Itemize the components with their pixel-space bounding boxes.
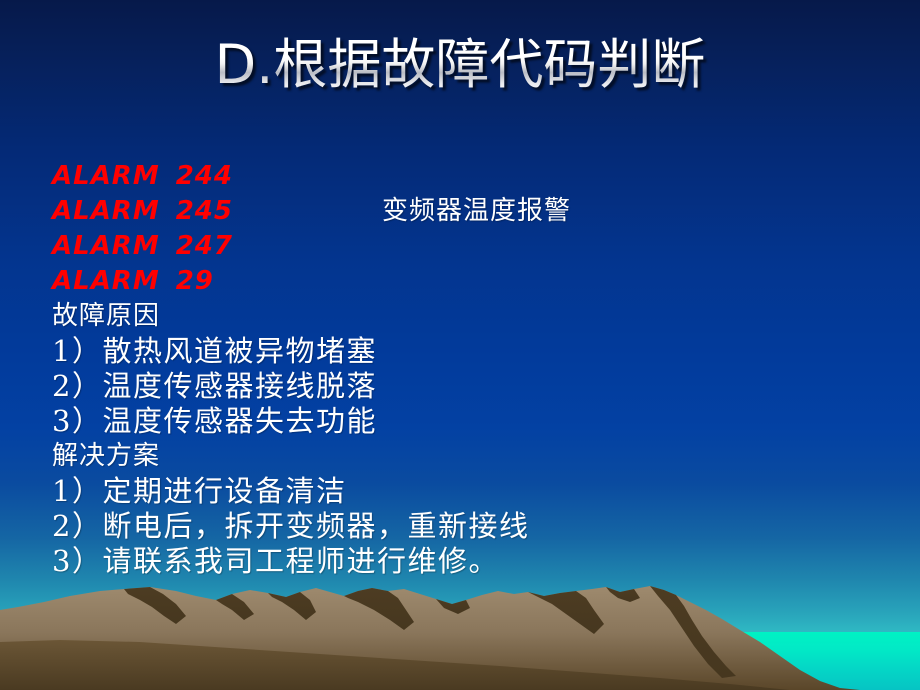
alarm-code-245: ALARM245 bbox=[52, 194, 233, 229]
alarm-annotation: 变频器温度报警 bbox=[382, 194, 571, 229]
solution-item-2-label: 2）断电后，拆开变频器，重新接线 bbox=[52, 509, 529, 544]
slide-title: D.根据故障代码判断 bbox=[215, 34, 706, 96]
cause-item-2-label: 2）温度传感器接线脱落 bbox=[52, 369, 377, 404]
cause-item-3-label: 3）温度传感器失去功能 bbox=[52, 404, 377, 439]
solution-item: 2）断电后，拆开变频器，重新接线 bbox=[52, 509, 882, 544]
solution-item-1-label: 1）定期进行设备清洁 bbox=[52, 474, 346, 509]
section-heading-solution: 解决方案 bbox=[52, 439, 882, 474]
cause-item-1-label: 1）散热风道被异物堵塞 bbox=[52, 334, 377, 369]
solution-item-3-label: 3）请联系我司工程师进行维修。 bbox=[52, 544, 499, 579]
mountain-range-graphic bbox=[0, 580, 920, 690]
cause-item: 2）温度传感器接线脱落 bbox=[52, 369, 882, 404]
alarm-row: ALARM244 bbox=[52, 159, 882, 194]
slide-title-container: D.根据故障代码判断 bbox=[0, 34, 920, 96]
slide-body: ALARM244 ALARM245 变频器温度报警 ALARM247 ALARM… bbox=[52, 159, 882, 579]
solution-item: 1）定期进行设备清洁 bbox=[52, 474, 882, 509]
solution-item: 3）请联系我司工程师进行维修。 bbox=[52, 544, 882, 579]
solution-heading-label: 解决方案 bbox=[52, 439, 160, 474]
cause-heading-label: 故障原因 bbox=[52, 299, 160, 334]
alarm-row: ALARM245 变频器温度报警 bbox=[52, 194, 882, 229]
presentation-slide: D.根据故障代码判断 ALARM244 ALARM245 变频器温度报警 ALA… bbox=[0, 0, 920, 690]
section-heading-cause: 故障原因 bbox=[52, 299, 882, 334]
alarm-code-244: ALARM244 bbox=[52, 159, 233, 194]
alarm-code-29: ALARM29 bbox=[52, 264, 214, 299]
alarm-row: ALARM247 bbox=[52, 229, 882, 264]
cause-item: 3）温度传感器失去功能 bbox=[52, 404, 882, 439]
alarm-code-247: ALARM247 bbox=[52, 229, 233, 264]
cause-item: 1）散热风道被异物堵塞 bbox=[52, 334, 882, 369]
alarm-row: ALARM29 bbox=[52, 264, 882, 299]
